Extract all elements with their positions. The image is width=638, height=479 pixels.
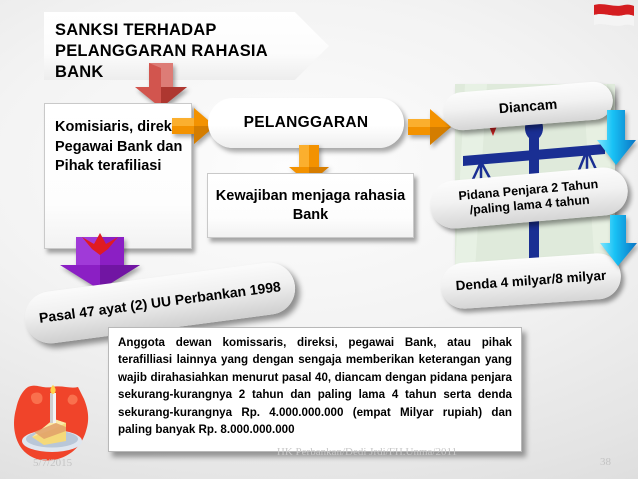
slide-canvas: SANKSI TERHADAP PELANGGARAN RAHASIA BANK… — [0, 0, 638, 479]
subjects-box-label: Komisiaris, direksi, Pegawai Bank dan Pi… — [55, 119, 188, 174]
subjects-box: Komisiaris, direksi, Pegawai Bank dan Pi… — [44, 103, 192, 249]
imprisonment-pill-label: Pidana Penjara 2 Tahun /paling lama 4 ta… — [437, 175, 621, 221]
indonesia-flag-icon — [592, 2, 636, 32]
birthday-cake-icon — [8, 383, 96, 465]
article-text-box: Anggota dewan komissaris, direksi, pegaw… — [108, 327, 522, 452]
violation-oval: PELANGGARAN — [208, 98, 404, 148]
cyan-down-arrow-icon — [597, 110, 637, 166]
fine-pill-label: Denda 4 milyar/8 milyar — [455, 268, 607, 295]
footer-page-number: 38 — [600, 456, 611, 468]
footer-credit: HK Perbankan/Dedi Jrdi/FH.Unma/2011 — [262, 445, 472, 460]
article-text-body: Anggota dewan komissaris, direksi, pegaw… — [118, 334, 512, 438]
obligation-box-label: Kewajiban menjaga rahasia Bank — [214, 187, 407, 225]
threat-pill-label: Diancam — [498, 96, 557, 117]
violation-oval-label: PELANGGARAN — [244, 114, 369, 132]
cyan-down-arrow-icon — [600, 215, 638, 267]
obligation-box: Kewajiban menjaga rahasia Bank — [207, 173, 414, 238]
footer-date: 5/7/2015 — [33, 457, 72, 469]
